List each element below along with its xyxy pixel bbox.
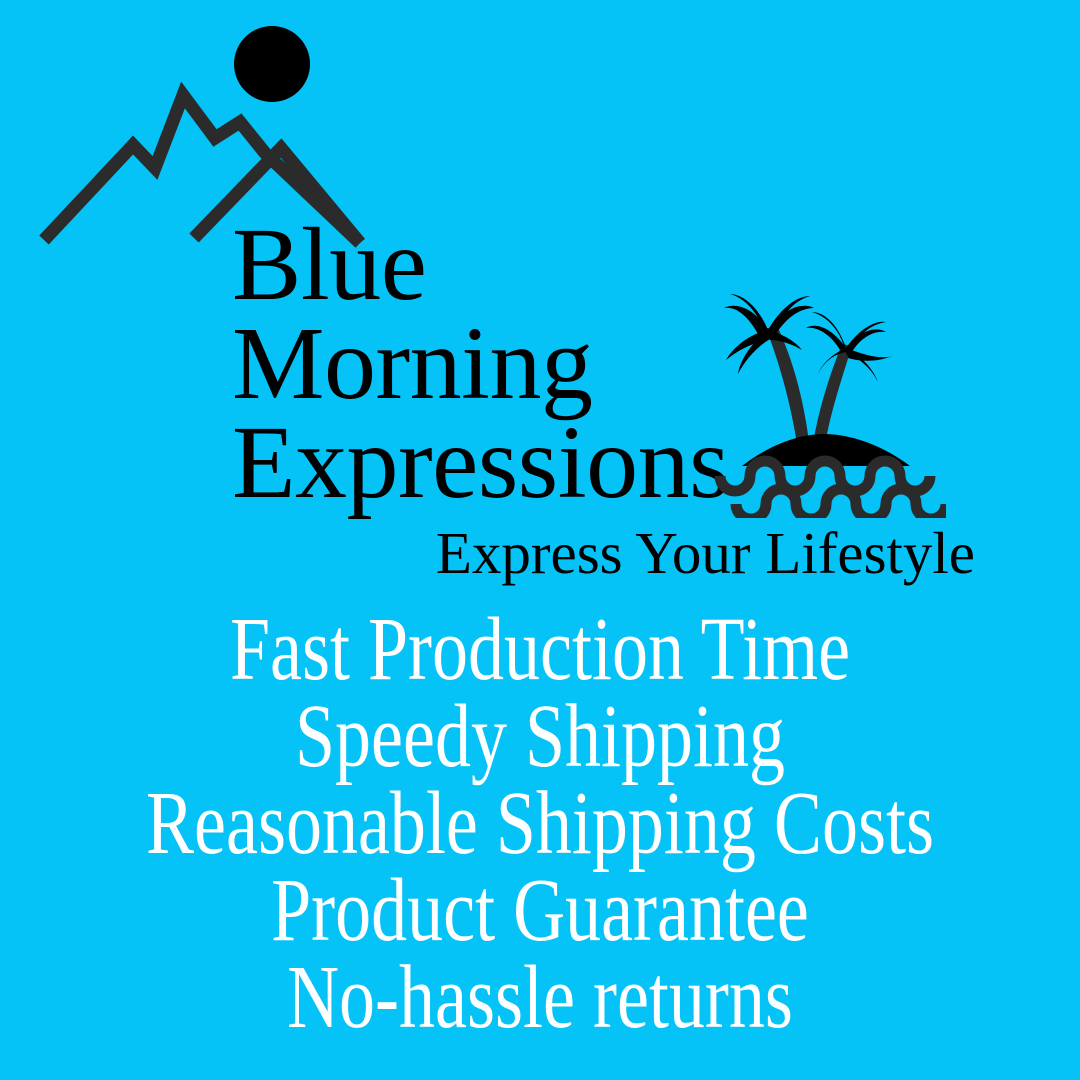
promo-graphic-canvas: Blue Morning Expressions	[0, 0, 1080, 1080]
ocean-waves-icon	[720, 461, 946, 518]
benefit-line: Product Guarantee	[108, 867, 972, 954]
benefit-line: Reasonable Shipping Costs	[108, 780, 972, 867]
benefit-line: Speedy Shipping	[108, 693, 972, 780]
palm-island-icon	[724, 294, 910, 466]
palm-island-mark	[706, 288, 946, 518]
brand-tagline: Express Your Lifestyle	[0, 522, 1080, 584]
benefit-line: No-hassle returns	[108, 954, 972, 1041]
sun-circle-icon	[234, 26, 310, 102]
benefits-list: Fast Production Time Speedy Shipping Rea…	[0, 606, 1080, 1041]
benefit-line: Fast Production Time	[108, 606, 972, 693]
